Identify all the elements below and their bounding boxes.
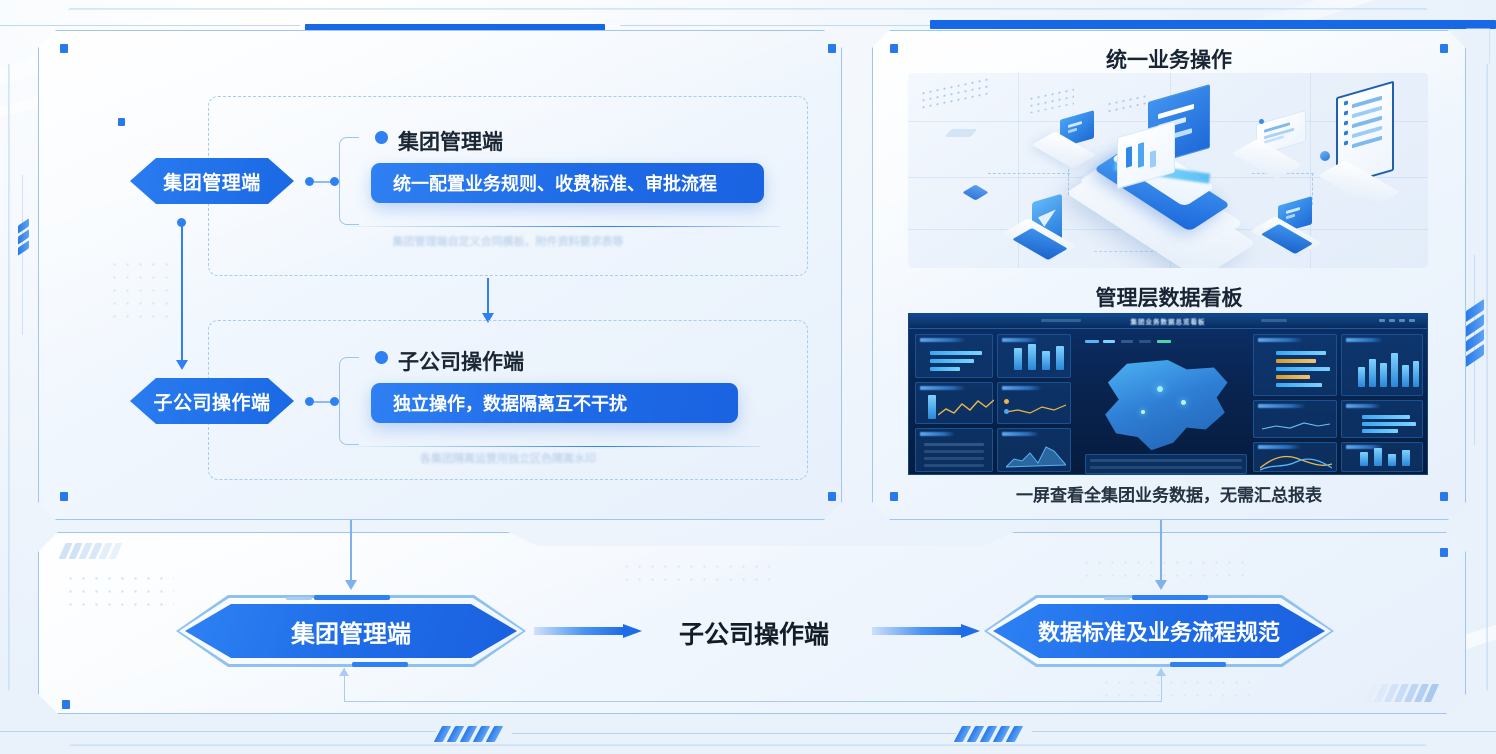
node-bullet: [375, 131, 388, 144]
isometric-platform-illustration: [908, 73, 1428, 268]
flow-arrow-2: [872, 624, 980, 638]
dashboard-card: [1341, 442, 1423, 472]
hex-top-notch: [1132, 595, 1208, 600]
side-tag-management[interactable]: 集团管理端: [130, 158, 294, 204]
dashboard-card: [997, 382, 1071, 424]
side-tag-subsidiary-label: 子公司操作端: [153, 388, 270, 415]
flow-step-2: 子公司操作端: [648, 615, 860, 651]
hex-top-notch-light: [1104, 597, 1130, 600]
group-underline: [340, 226, 780, 227]
corner-bevel-decoration: [1466, 28, 1490, 64]
infographic-canvas: 集团管理端 集团管理端 统一配置业务规则、收费标准、审批流程 集团管理端自定义合…: [0, 0, 1496, 754]
bottom-edge-chevron-accent-left: [438, 726, 510, 744]
panel-corner-nub: [1440, 548, 1448, 557]
side-tag-management-label: 集团管理端: [163, 168, 261, 195]
arrow-origin-dot: [177, 218, 186, 227]
dashboard-card: [1253, 442, 1337, 472]
return-arrow-head-left: [339, 668, 349, 676]
connector-dot: [305, 177, 314, 186]
flow-step-3-label: 数据标准及业务流程规范: [1038, 615, 1280, 647]
footnote-management: 集团管理端自定义合同模板、附件资料要求表等: [208, 233, 808, 249]
right-top-title: 统一业务操作: [872, 44, 1466, 74]
statement-management-label: 统一配置业务规则、收费标准、审批流程: [393, 170, 717, 196]
node-title-management: 集团管理端: [398, 126, 503, 156]
hex-top-notch: [314, 595, 390, 600]
dashboard-header-title: 集团业务数据总览看板: [1131, 316, 1206, 326]
flow-step-1-label: 集团管理端: [291, 614, 411, 649]
side-tag-subsidiary[interactable]: 子公司操作端: [130, 378, 294, 424]
dashboard-card: [915, 334, 993, 378]
connector-bracket: [339, 137, 359, 225]
right-edge-hairline: [1474, 255, 1475, 445]
dashboard-card: [1253, 334, 1337, 396]
bottom-hairline-right: [1032, 731, 1496, 732]
panel-corner-nub: [828, 44, 836, 53]
dashboard-card: [1341, 334, 1423, 396]
dashboard-card: [1253, 400, 1337, 438]
hex-bottom-notch: [352, 662, 408, 667]
return-line-bottom: [344, 701, 1162, 702]
return-arrow-head-right: [1156, 668, 1166, 676]
top-accent-bar: [305, 24, 605, 31]
left-edge-chevron-accent: [18, 222, 30, 260]
connector-dot: [330, 177, 339, 186]
statement-subsidiary: 独立操作，数据隔离互不干扰: [371, 383, 738, 423]
connector-node-cube: [968, 185, 983, 200]
dashboard-caption: 一屏查看全集团业务数据，无需汇总报表: [872, 481, 1466, 506]
flow-step-2-label: 子公司操作端: [679, 621, 829, 649]
node-bullet: [375, 351, 388, 364]
bottom-hairline-left: [0, 731, 436, 732]
dashboard-table-card: [915, 428, 993, 472]
dashboard-bottom-table: [1085, 454, 1247, 474]
group-nub: [118, 118, 125, 126]
node-title-subsidiary: 子公司操作端: [398, 346, 524, 376]
flow-arrow-1: [534, 624, 642, 638]
dashboard-card: [997, 428, 1071, 472]
flow-step-3[interactable]: 数据标准及业务流程规范: [984, 595, 1334, 667]
dashboard-card: [1341, 400, 1423, 438]
right-bottom-title: 管理层数据看板: [872, 282, 1466, 312]
dashboard-card: [997, 334, 1071, 378]
footnote-subsidiary: 各集团隔离运营用独立区色隔离水印: [208, 450, 808, 466]
panel-corner-nub: [60, 44, 68, 53]
right-edge-chevron-accent: [1466, 305, 1486, 385]
hex-bottom-notch: [1170, 662, 1226, 667]
panel-corner-nub: [828, 492, 836, 501]
connector-dot: [330, 397, 339, 406]
panel-corner-nub: [60, 492, 68, 501]
bottom-hairline-center: [512, 733, 956, 734]
left-edge-hairline: [22, 175, 23, 335]
top-accent-bar-right: [930, 20, 1496, 29]
dashboard-card: [915, 382, 993, 424]
connector-bracket: [339, 357, 359, 445]
bottom-edge-chevron-accent-right: [958, 726, 1030, 744]
management-data-dashboard: 集团业务数据总览看板: [908, 313, 1428, 475]
hex-top-notch-light: [286, 597, 312, 600]
top-hairline-left: [0, 25, 300, 26]
flow-step-1[interactable]: 集团管理端: [176, 595, 526, 667]
connector-dot: [305, 397, 314, 406]
panel-corner-nub: [62, 700, 70, 709]
statement-management: 统一配置业务规则、收费标准、审批流程: [371, 163, 764, 203]
dashboard-map-legend: [1079, 336, 1247, 360]
dashboard-map-region: [1097, 360, 1233, 454]
group-underline: [340, 446, 760, 447]
statement-subsidiary-label: 独立操作，数据隔离互不干扰: [393, 390, 627, 416]
